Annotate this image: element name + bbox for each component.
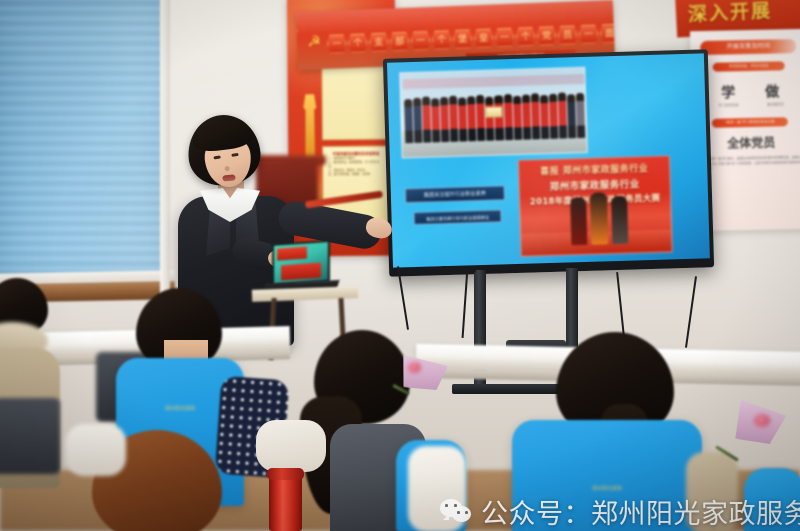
poster-left-item: 四、遵守党章党规，讲规矩、有纪律。 <box>328 173 384 178</box>
poster-right-big-left: 学 <box>721 82 735 102</box>
poster-right-pill-mid: "两学一做"学习教育的参加对象 <box>712 117 788 128</box>
attendee-white-sleeve <box>66 424 126 476</box>
wechat-icon <box>440 498 472 525</box>
poster-right-pill-top: 学党章党规、学系列讲话 <box>713 61 785 72</box>
banner-char-badge: 个 <box>348 33 368 53</box>
poster-right-body: 开展"两学一做"学习教育，是面向全体党员深化党内教育的重要实践，是推动党内教育从… <box>703 155 800 171</box>
banner-char-badge: 一 <box>327 34 347 54</box>
poster-right-small-left: 学习党章党规 <box>709 102 747 108</box>
window-frame <box>160 0 170 296</box>
chair-back <box>0 398 60 474</box>
hammer-sickle-icon: ☭ <box>305 33 324 52</box>
presenter-mouth <box>222 174 235 181</box>
laptop-slide-photo-top <box>277 247 307 261</box>
blind-slats <box>0 0 168 286</box>
presenter-nose <box>224 166 229 171</box>
tv-screen: 喜报 郑州市家政服务行业 郑州市家政服务行业 2018年度郑州市家政服务员大赛 … <box>387 53 710 267</box>
laptop-screen-content <box>274 242 328 284</box>
banner-char-badge: 支 <box>369 32 389 52</box>
photo-scene: 深入开展"两学一做"学习教育活动 以党章党规为基本遵循，以习近平总书记系列重要讲… <box>0 0 800 531</box>
tv-soundbar-clip <box>440 266 476 273</box>
red-thermos-lid <box>267 468 304 480</box>
banner-char-badge: 一 <box>495 27 515 47</box>
poster-right-small-right: 做合格党员 <box>755 101 795 107</box>
poster-right-big-right: 做 <box>765 81 779 101</box>
channel-watermark: 公众号：郑州阳光家政服务公司 <box>440 492 800 531</box>
flower-bloom <box>754 414 770 427</box>
banner-char-badge: 面 <box>600 23 615 43</box>
red-thermos-cup[interactable] <box>269 474 302 531</box>
banner-char-badge: 一 <box>411 30 431 50</box>
presenter-eye-right <box>231 153 238 157</box>
wall-tv-display[interactable]: 喜报 郑州市家政服务行业 郑州市家政服务行业 2018年度郑州市家政服务员大赛 … <box>383 49 714 277</box>
banner-char-badge: 个 <box>432 30 452 50</box>
banner-char-badge: 个 <box>516 26 536 46</box>
attendee-white-top <box>256 420 326 472</box>
banner-char-badge: 垒 <box>474 28 494 48</box>
laptop-slide-photo-bottom <box>281 263 321 281</box>
flower-bloom <box>408 362 421 373</box>
poster-right-header: 开展背景及时间 <box>700 39 796 55</box>
banner-char-badge: 党 <box>537 26 557 46</box>
tv-screen-glare <box>387 53 710 267</box>
banner-char-badge: 部 <box>390 31 410 51</box>
banner-char-badge: 员 <box>558 25 578 45</box>
watermark-text: 公众号：郑州阳光家政服务公司 <box>481 492 800 531</box>
presenter-laptop[interactable] <box>272 240 330 286</box>
banner-char-badge: 一 <box>579 24 599 44</box>
banner-char-badge: 堡 <box>453 29 473 49</box>
presenter-eye-left <box>213 155 220 159</box>
